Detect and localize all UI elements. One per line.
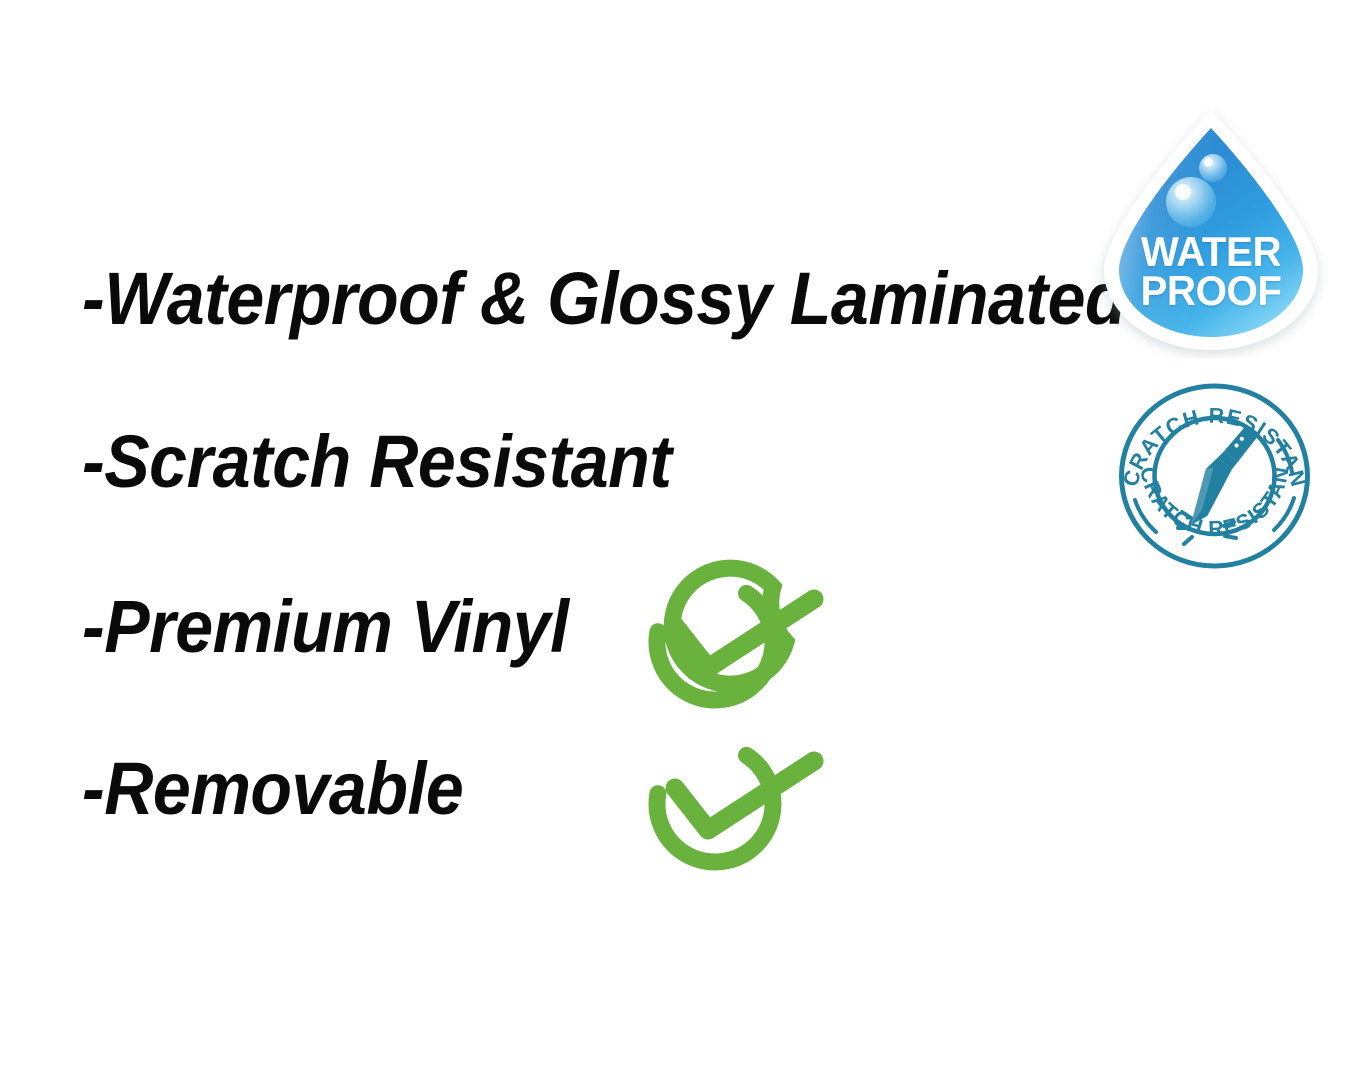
check-circle-removable: [636, 718, 830, 878]
water-bubble-small: [1199, 154, 1227, 182]
waterproof-badge: WATER PROOF: [1092, 106, 1330, 358]
scratch-resistant-badge: SCRATCH RESISTANT SCRATCH RESISTANT: [1112, 380, 1317, 572]
check-circle-premium-vinyl: [636, 556, 830, 716]
scratch-resistant-stamp-icon: SCRATCH RESISTANT SCRATCH RESISTANT: [1112, 380, 1317, 572]
check-circle-icon: [636, 718, 830, 878]
feature-item-premium-vinyl: -Premium Vinyl: [82, 590, 569, 664]
feature-item-scratch-resistant: -Scratch Resistant: [82, 425, 672, 499]
check-circle-icon: [636, 556, 830, 716]
water-bubble-large: [1166, 177, 1216, 227]
feature-list: -Waterproof & Glossy Laminated -Scratch …: [0, 0, 1100, 1080]
feature-item-removable: -Removable: [82, 752, 463, 826]
feature-item-waterproof: -Waterproof & Glossy Laminated: [82, 262, 1126, 336]
feature-graphic-canvas: -Waterproof & Glossy Laminated -Scratch …: [0, 0, 1359, 1080]
waterproof-label: WATER PROOF: [1097, 232, 1325, 311]
waterproof-label-line2: PROOF: [1097, 271, 1325, 310]
waterproof-label-line1: WATER: [1097, 232, 1325, 271]
